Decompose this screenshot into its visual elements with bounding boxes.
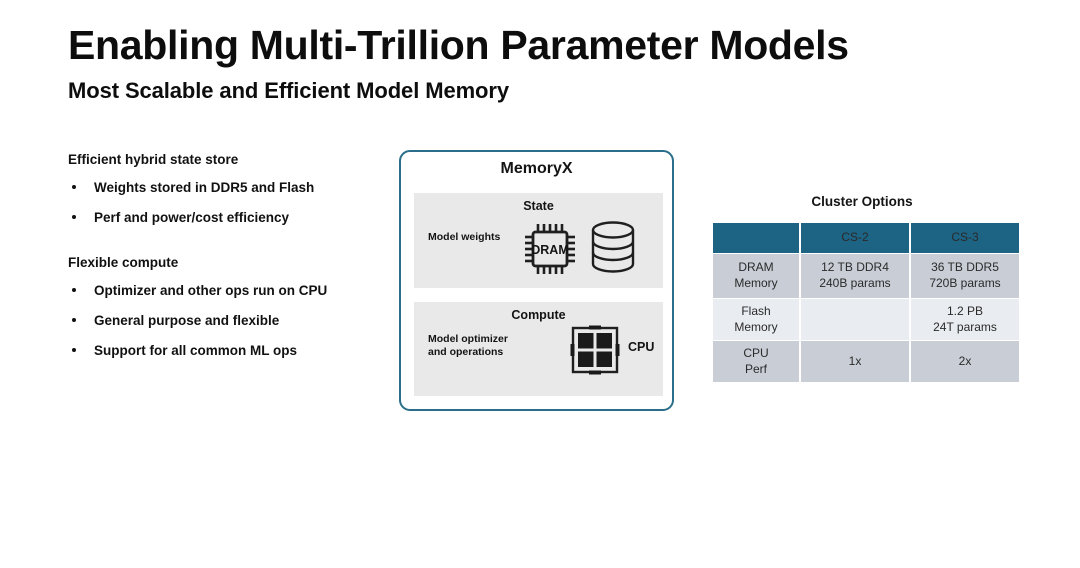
cpu-icon xyxy=(569,324,621,376)
row-label-line2: Memory xyxy=(713,276,799,292)
page-subtitle: Most Scalable and Efficient Model Memory xyxy=(68,78,509,104)
list-item-label: General purpose and flexible xyxy=(94,313,279,328)
row-label-line1: CPU xyxy=(713,346,799,362)
cell-line2: 240B params xyxy=(801,276,909,292)
cell-line1: 1.2 PB xyxy=(911,304,1019,320)
dram-chip-label: DRAM xyxy=(531,243,569,257)
compute-panel: Compute Model optimizer and operations C… xyxy=(414,302,663,396)
bullet-group-flexible-compute: Flexible compute Optimizer and other ops… xyxy=(68,255,388,358)
list-item-label: Optimizer and other ops run on CPU xyxy=(94,283,327,298)
list-item: Support for all common ML ops xyxy=(68,343,388,358)
cell-flash-cs3: 1.2 PB 24T params xyxy=(911,299,1019,340)
compute-panel-title: Compute xyxy=(414,308,663,322)
bullet-list: Efficient hybrid state store Weights sto… xyxy=(68,152,388,373)
slide-canvas: Enabling Multi-Trillion Parameter Models… xyxy=(0,0,1080,568)
cell-dram-cs3: 36 TB DDR5 720B params xyxy=(911,254,1019,298)
table-header-row: CS-2 CS-3 xyxy=(713,223,1019,253)
row-label-line2: Perf xyxy=(713,362,799,378)
state-panel-title: State xyxy=(414,199,663,213)
table-row: DRAM Memory 12 TB DDR4 240B params 36 TB… xyxy=(713,254,1019,298)
table-header-cs3: CS-3 xyxy=(911,223,1019,253)
list-item: General purpose and flexible xyxy=(68,313,388,328)
list-item-label: Support for all common ML ops xyxy=(94,343,297,358)
compute-panel-label: Model optimizer and operations xyxy=(428,333,508,360)
table-row: Flash Memory 1.2 PB 24T params xyxy=(713,299,1019,340)
compute-panel-label-line2: and operations xyxy=(428,346,508,359)
bullet-dot-icon xyxy=(72,348,76,352)
bullet-dot-icon xyxy=(72,288,76,292)
bullet-group-spacer xyxy=(68,240,388,255)
memoryx-card: MemoryX State Model weights xyxy=(399,150,674,411)
bullet-dot-icon xyxy=(72,215,76,219)
cpu-label: CPU xyxy=(628,340,654,354)
bullet-group-heading: Flexible compute xyxy=(68,255,388,270)
cell-dram-cs2: 12 TB DDR4 240B params xyxy=(801,254,909,298)
cell-line1: 12 TB DDR4 xyxy=(801,260,909,276)
row-label-dram-memory: DRAM Memory xyxy=(713,254,799,298)
list-item: Weights stored in DDR5 and Flash xyxy=(68,180,388,195)
cell-line1: 36 TB DDR5 xyxy=(911,260,1019,276)
compute-panel-label-line1: Model optimizer xyxy=(428,333,508,346)
dram-chip-icon: DRAM xyxy=(522,221,578,277)
cell-line2: 720B params xyxy=(911,276,1019,292)
cluster-options-table: CS-2 CS-3 DRAM Memory 12 TB DDR4 240B pa… xyxy=(711,222,1021,383)
memoryx-title: MemoryX xyxy=(401,160,672,178)
list-item-label: Perf and power/cost efficiency xyxy=(94,210,289,225)
state-panel-label: Model weights xyxy=(428,231,500,244)
disk-stack-icon xyxy=(590,220,636,274)
row-label-line2: Memory xyxy=(713,320,799,336)
state-panel: State Model weights xyxy=(414,193,663,288)
bullet-dot-icon xyxy=(72,318,76,322)
bullet-group-efficient-hybrid-state-store: Efficient hybrid state store Weights sto… xyxy=(68,152,388,225)
cell-line2: 24T params xyxy=(911,320,1019,336)
row-label-cpu-perf: CPU Perf xyxy=(713,341,799,382)
table-header-corner xyxy=(713,223,799,253)
list-item: Optimizer and other ops run on CPU xyxy=(68,283,388,298)
list-item-label: Weights stored in DDR5 and Flash xyxy=(94,180,314,195)
cell-cpu-cs2: 1x xyxy=(801,341,909,382)
cell-cpu-cs3: 2x xyxy=(911,341,1019,382)
table-header-cs2: CS-2 xyxy=(801,223,909,253)
row-label-flash-memory: Flash Memory xyxy=(713,299,799,340)
table-row: CPU Perf 1x 2x xyxy=(713,341,1019,382)
cluster-options-title: Cluster Options xyxy=(711,194,1013,209)
bullet-group-heading: Efficient hybrid state store xyxy=(68,152,388,167)
row-label-line1: DRAM xyxy=(713,260,799,276)
page-title: Enabling Multi-Trillion Parameter Models xyxy=(68,22,849,69)
list-item: Perf and power/cost efficiency xyxy=(68,210,388,225)
row-label-line1: Flash xyxy=(713,304,799,320)
bullet-dot-icon xyxy=(72,185,76,189)
cell-flash-cs2 xyxy=(801,299,909,340)
